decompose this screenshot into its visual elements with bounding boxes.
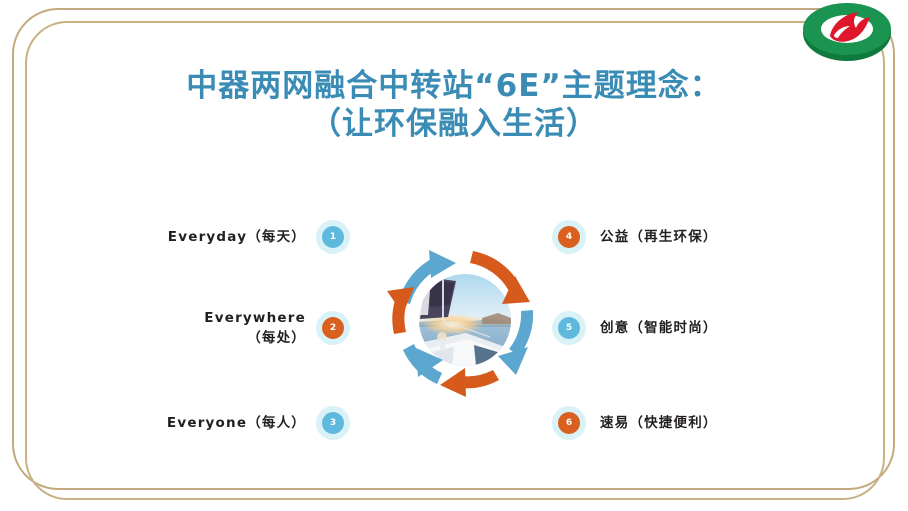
item-everywhere-label: Everywhere （每处） <box>204 308 306 349</box>
page-title: 中器两网融合中转站“6E”主题理念： （让环保融入生活） <box>0 68 908 144</box>
item-suyi[interactable]: 6 速易（快捷便利） <box>552 403 718 443</box>
badge-3[interactable]: 3 <box>316 406 350 440</box>
item-everyone[interactable]: Everyone（每人） 3 <box>167 403 350 443</box>
badge-5-number: 5 <box>558 317 580 339</box>
badge-6[interactable]: 6 <box>552 406 586 440</box>
item-everyday[interactable]: Everyday（每天） 1 <box>168 217 350 257</box>
item-everywhere[interactable]: Everywhere （每处） 2 <box>204 308 350 348</box>
item-chuangyi[interactable]: 5 创意（智能时尚） <box>552 308 718 348</box>
cycle-arrow-4 <box>440 368 499 397</box>
title-line-2: （让环保融入生活） <box>0 106 908 144</box>
item-everyone-label: Everyone（每人） <box>167 413 306 433</box>
badge-2[interactable]: 2 <box>316 311 350 345</box>
item-chuangyi-label: 创意（智能时尚） <box>600 318 718 338</box>
six-e-diagram: Everyday（每天） 1 Everywhere （每处） 2 Everyon… <box>0 200 908 460</box>
item-suyi-label: 速易（快捷便利） <box>600 413 718 433</box>
company-logo <box>798 2 894 64</box>
item-everyday-label: Everyday（每天） <box>168 227 306 247</box>
center-photo <box>419 274 511 366</box>
item-gongyi-label: 公益（再生环保） <box>600 227 718 247</box>
badge-5[interactable]: 5 <box>552 311 586 345</box>
slide-canvas: 中器两网融合中转站“6E”主题理念： （让环保融入生活） <box>0 0 908 511</box>
badge-1[interactable]: 1 <box>316 220 350 254</box>
badge-3-number: 3 <box>322 412 344 434</box>
title-line-1: 中器两网融合中转站“6E”主题理念： <box>0 68 908 106</box>
badge-1-number: 1 <box>322 226 344 248</box>
cycle-ring <box>370 225 560 415</box>
cycle-arrow-6 <box>387 287 414 334</box>
badge-2-number: 2 <box>322 317 344 339</box>
badge-4-number: 4 <box>558 226 580 248</box>
badge-6-number: 6 <box>558 412 580 434</box>
badge-4[interactable]: 4 <box>552 220 586 254</box>
item-gongyi[interactable]: 4 公益（再生环保） <box>552 217 718 257</box>
